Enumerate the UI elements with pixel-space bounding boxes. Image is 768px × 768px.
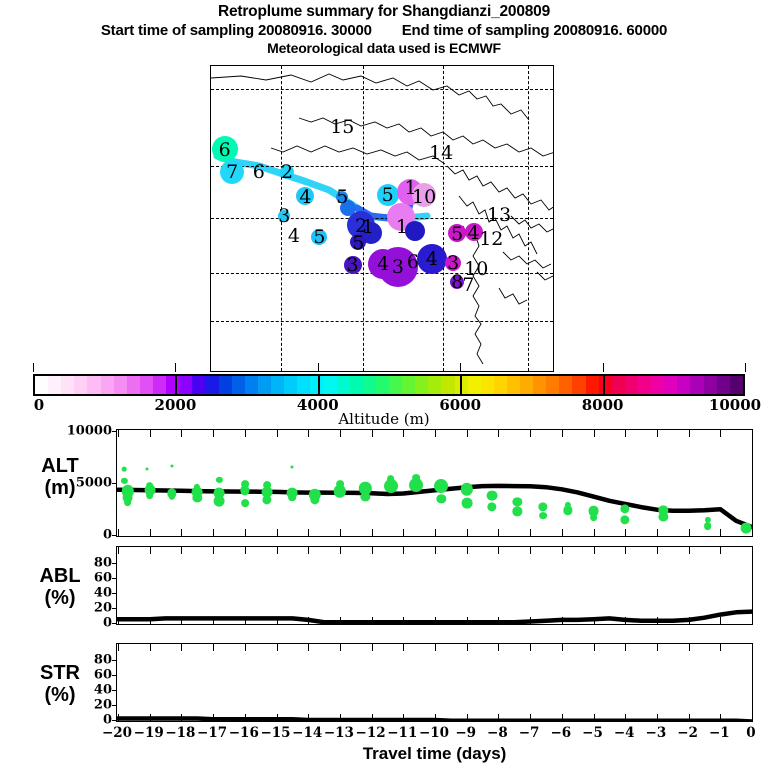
x-tick-label: −19 — [134, 725, 164, 741]
colorbar-segment — [441, 376, 454, 394]
x-tick-label: −9 — [455, 725, 476, 741]
colorbar-segment — [74, 376, 87, 394]
x-tick-label: −2 — [677, 725, 698, 741]
x-tick-label: −17 — [197, 725, 227, 741]
colorbar-segment — [205, 376, 218, 394]
map-cluster-label: 5 — [336, 186, 348, 208]
map-cluster-label: 12 — [479, 228, 503, 250]
x-axis-tick-bottom — [150, 714, 151, 721]
map-cluster-label: 6 — [219, 139, 231, 161]
map-cluster-label: 5 — [382, 184, 394, 206]
x-axis-tick-bottom — [372, 617, 373, 624]
x-axis-tick-bottom — [372, 714, 373, 721]
alt-scatter-point — [241, 499, 249, 507]
x-axis-tick-bottom — [340, 617, 341, 624]
x-axis-tick-top — [625, 644, 626, 651]
x-axis-tick-top — [372, 430, 373, 437]
x-axis-tick-top — [181, 430, 182, 437]
x-axis-tick-top — [752, 644, 753, 651]
x-tick-label: −4 — [614, 725, 635, 741]
y-tick-label: 40 — [94, 683, 112, 698]
x-axis-tick-bottom — [181, 529, 182, 536]
x-axis-tick-top — [689, 547, 690, 554]
x-axis-tick-bottom — [752, 617, 753, 624]
x-axis-tick-top — [689, 430, 690, 437]
map-cluster-label: 4 — [288, 225, 300, 247]
colorbar-segment — [271, 376, 284, 394]
x-axis-tick-bottom — [594, 529, 595, 536]
colorbar-segment — [245, 376, 258, 394]
x-axis-tick-bottom — [181, 714, 182, 721]
map-cluster-label: 14 — [429, 142, 453, 164]
str-series-overlay — [117, 644, 753, 722]
colorbar-segment — [704, 376, 717, 394]
x-axis-tick-top — [720, 644, 721, 651]
x-axis-tick-top — [150, 547, 151, 554]
map-cluster-label: 5 — [352, 232, 364, 254]
map-cluster-label: 4 — [377, 253, 389, 275]
x-axis-tick-bottom — [498, 529, 499, 536]
x-axis-tick-top — [720, 430, 721, 437]
x-axis-tick-top — [657, 430, 658, 437]
colorbar-segment — [127, 376, 140, 394]
x-axis-tick-top — [625, 430, 626, 437]
x-axis-tick-top — [372, 547, 373, 554]
x-axis-tick-bottom — [118, 714, 119, 721]
abl-plot-panel[interactable] — [116, 546, 753, 625]
page-title: Retroplume summary for Shangdianzi_20080… — [0, 2, 768, 21]
colorbar-divider — [175, 374, 177, 396]
x-axis-tick-bottom — [150, 617, 151, 624]
x-axis-tick-bottom — [340, 529, 341, 536]
map-cluster-label: 4 — [468, 222, 480, 244]
x-axis-tick-bottom — [720, 617, 721, 624]
colorbar-segment — [402, 376, 415, 394]
colorbar-tick — [33, 363, 34, 372]
x-axis-tick-bottom — [562, 617, 563, 624]
x-axis-tick-top — [498, 430, 499, 437]
colorbar-segment — [415, 376, 428, 394]
x-axis-tick-top — [530, 547, 531, 554]
x-axis-tick-top — [308, 430, 309, 437]
x-axis-tick-top — [562, 547, 563, 554]
x-axis-tick-bottom — [530, 714, 531, 721]
x-axis-tick-top — [308, 644, 309, 651]
y-tick-label: 80 — [94, 653, 112, 668]
abl-y-tick-labels: 020406080 — [66, 546, 112, 625]
x-axis-tick-bottom — [245, 617, 246, 624]
alt-scatter-point — [487, 490, 498, 501]
colorbar-segment — [153, 376, 166, 394]
x-axis-tick-bottom — [277, 714, 278, 721]
map-cluster-label: 2 — [281, 161, 293, 183]
colorbar-segment — [101, 376, 114, 394]
x-axis-tick-top — [435, 430, 436, 437]
x-axis-tick-bottom — [213, 617, 214, 624]
map-cluster-label: 13 — [487, 204, 511, 226]
str-y-tick-labels: 020406080 — [66, 643, 112, 722]
map-cluster-label: 3 — [392, 256, 404, 278]
y-tick-label: 60 — [94, 668, 112, 683]
colorbar-segment — [87, 376, 100, 394]
x-axis-tick-top — [150, 430, 151, 437]
map-cluster-label: 15 — [330, 116, 354, 138]
colorbar-segment — [638, 376, 651, 394]
abl-series-overlay — [117, 547, 753, 625]
colorbar-divider — [603, 374, 605, 396]
x-axis-tick-top — [657, 547, 658, 554]
map-cluster-label: 7 — [462, 274, 474, 296]
x-axis-tick-top — [118, 547, 119, 554]
map-cluster-label: 5 — [313, 226, 325, 248]
alt-scatter-point — [146, 482, 154, 490]
colorbar-divider — [318, 374, 320, 396]
x-tick-label: 0 — [746, 725, 755, 741]
colorbar-segment — [219, 376, 232, 394]
y-tick-label: 20 — [94, 601, 112, 616]
colorbar-segment — [284, 376, 297, 394]
alt-plot-panel[interactable] — [116, 429, 753, 537]
colorbar-segment — [664, 376, 677, 394]
colorbar-segment — [730, 376, 743, 394]
x-axis-tick-top — [562, 644, 563, 651]
alt-scatter-point — [740, 523, 751, 534]
colorbar-segment — [559, 376, 572, 394]
alt-scatter-point — [124, 498, 132, 506]
x-axis-tick-top — [498, 547, 499, 554]
x-axis-tick-bottom — [562, 529, 563, 536]
colorbar-tick — [318, 363, 319, 372]
colorbar-tick — [175, 363, 176, 372]
colorbar-segment — [232, 376, 245, 394]
x-tick-label: −20 — [102, 725, 132, 741]
map-cluster-label: 4 — [299, 186, 311, 208]
x-axis-tick-bottom — [118, 617, 119, 624]
colorbar-segment — [323, 376, 336, 394]
x-axis-tick-top — [372, 644, 373, 651]
x-axis-tick-bottom — [689, 714, 690, 721]
colorbar-segment — [494, 376, 507, 394]
alt-scatter-point — [146, 492, 154, 500]
colorbar-segment — [350, 376, 363, 394]
x-axis-tick-bottom — [657, 617, 658, 624]
colorbar-segment — [179, 376, 192, 394]
end-time-label: End time of sampling 20080916. 60000 — [402, 22, 667, 39]
alt-scatter-point — [434, 479, 448, 493]
x-axis-tick-bottom — [308, 714, 309, 721]
colorbar-segment — [651, 376, 664, 394]
colorbar-segment — [140, 376, 153, 394]
x-axis-tick-top — [181, 644, 182, 651]
x-axis-tick-top — [245, 547, 246, 554]
x-axis-tick-labels: −20−19−18−17−16−15−14−13−12−11−10−9−8−7−… — [116, 725, 753, 743]
title-block: Retroplume summary for Shangdianzi_20080… — [0, 2, 768, 57]
colorbar-segment — [586, 376, 599, 394]
alt-scatter-point — [288, 494, 296, 502]
x-axis-tick-bottom — [181, 617, 182, 624]
x-axis-tick-bottom — [435, 714, 436, 721]
x-tick-label: −3 — [646, 725, 667, 741]
x-axis-tick-top — [467, 644, 468, 651]
x-axis-tick-top — [340, 644, 341, 651]
x-axis-tick-bottom — [213, 529, 214, 536]
start-time-label: Start time of sampling 20080916. 30000 — [101, 22, 372, 39]
alt-scatter-point — [539, 512, 547, 520]
colorbar-segment — [337, 376, 350, 394]
x-tick-label: −11 — [387, 725, 417, 741]
x-axis-tick-top — [403, 547, 404, 554]
map-cluster-label: 6 — [253, 161, 265, 183]
x-axis-tick-top — [435, 547, 436, 554]
x-axis-tick-top — [213, 547, 214, 554]
colorbar-segment — [717, 376, 730, 394]
map-latitude-gridline — [211, 321, 553, 322]
colorbar-segment — [546, 376, 559, 394]
x-axis-tick-bottom — [498, 617, 499, 624]
x-axis-tick-bottom — [308, 617, 309, 624]
x-axis-tick-bottom — [467, 617, 468, 624]
colorbar-segment — [376, 376, 389, 394]
x-axis-tick-bottom — [625, 617, 626, 624]
x-axis-tick-top — [625, 547, 626, 554]
x-axis-tick-top — [530, 430, 531, 437]
alt-scatter-point — [461, 497, 472, 508]
colorbar-tick — [603, 363, 604, 372]
x-axis-tick-bottom — [308, 529, 309, 536]
colorbar-tick — [745, 363, 746, 372]
colorbar-segment — [114, 376, 127, 394]
colorbar-tick — [460, 363, 461, 372]
x-tick-label: −6 — [550, 725, 571, 741]
alt-scatter-point — [590, 514, 598, 522]
x-axis-tick-bottom — [435, 617, 436, 624]
colorbar-segment — [507, 376, 520, 394]
map-cluster-label: 1 — [396, 216, 408, 238]
colorbar-segment — [599, 376, 612, 394]
x-tick-label: −8 — [487, 725, 508, 741]
x-axis-tick-bottom — [118, 529, 119, 536]
x-tick-label: −7 — [519, 725, 540, 741]
x-tick-label: −14 — [292, 725, 322, 741]
map-cluster-label: 10 — [412, 186, 436, 208]
x-axis-tick-bottom — [720, 714, 721, 721]
x-axis-tick-bottom — [150, 529, 151, 536]
x-tick-label: −18 — [165, 725, 195, 741]
x-axis-tick-bottom — [403, 617, 404, 624]
altitude-colorbar — [33, 374, 745, 396]
colorbar-segment — [428, 376, 441, 394]
x-axis-tick-top — [181, 547, 182, 554]
x-axis-tick-top — [277, 547, 278, 554]
colorbar-segment — [572, 376, 585, 394]
x-axis-tick-bottom — [213, 714, 214, 721]
y-tick-label: 20 — [94, 698, 112, 713]
alt-scatter-point — [241, 480, 249, 488]
y-tick-label: 0 — [103, 528, 112, 543]
x-axis-tick-top — [118, 644, 119, 651]
meteo-source-label: Meteorological data used is ECMWF — [0, 40, 768, 57]
x-axis-tick-bottom — [594, 714, 595, 721]
colorbar-segment — [192, 376, 205, 394]
x-axis-tick-top — [150, 644, 151, 651]
x-axis-tick-top — [213, 644, 214, 651]
alt-scatter-point — [387, 475, 395, 483]
x-axis-tick-bottom — [657, 529, 658, 536]
colorbar-divider — [460, 374, 462, 396]
x-axis-tick-top — [213, 430, 214, 437]
alt-scatter-point — [122, 467, 127, 472]
retroplume-map[interactable]: 1514676245511013345215154123436431087 — [210, 65, 554, 372]
x-axis-tick-bottom — [403, 714, 404, 721]
x-tick-label: −16 — [229, 725, 259, 741]
x-axis-title: Travel time (days) — [116, 744, 753, 764]
colorbar-segment — [48, 376, 61, 394]
x-axis-tick-bottom — [657, 714, 658, 721]
str-plot-panel[interactable] — [116, 643, 753, 722]
x-axis-tick-bottom — [245, 714, 246, 721]
x-axis-tick-top — [245, 430, 246, 437]
x-axis-tick-bottom — [245, 529, 246, 536]
x-axis-tick-top — [340, 547, 341, 554]
x-axis-tick-bottom — [277, 529, 278, 536]
colorbar-axis-title: Altitude (m) — [0, 410, 768, 428]
x-axis-tick-top — [594, 644, 595, 651]
x-axis-tick-top — [498, 644, 499, 651]
alt-scatter-point — [412, 474, 420, 482]
x-axis-tick-top — [435, 644, 436, 651]
y-tick-label: 10000 — [67, 424, 112, 439]
x-axis-tick-bottom — [530, 617, 531, 624]
colorbar-segment — [690, 376, 703, 394]
x-axis-tick-bottom — [498, 714, 499, 721]
colorbar-segment — [61, 376, 74, 394]
sampling-times: Start time of sampling 20080916. 30000 E… — [0, 21, 768, 40]
colorbar-segment — [481, 376, 494, 394]
x-tick-label: −5 — [582, 725, 603, 741]
colorbar-segment — [363, 376, 376, 394]
colorbar-segment — [35, 376, 48, 394]
x-axis-tick-bottom — [467, 714, 468, 721]
x-axis-tick-top — [467, 430, 468, 437]
x-axis-tick-bottom — [689, 617, 690, 624]
y-tick-label: 0 — [103, 616, 112, 631]
x-axis-tick-top — [277, 644, 278, 651]
map-cluster-label: 4 — [426, 248, 438, 270]
y-tick-label: 40 — [94, 586, 112, 601]
x-axis-tick-bottom — [594, 617, 595, 624]
x-axis-tick-top — [467, 547, 468, 554]
x-tick-label: −13 — [324, 725, 354, 741]
alt-y-tick-labels: 0500010000 — [66, 429, 112, 537]
x-axis-tick-top — [689, 644, 690, 651]
x-axis-tick-top — [720, 547, 721, 554]
y-tick-label: 60 — [94, 571, 112, 586]
x-axis-tick-top — [118, 430, 119, 437]
alt-scatter-point — [263, 481, 271, 489]
x-axis-tick-bottom — [562, 714, 563, 721]
x-axis-tick-top — [594, 547, 595, 554]
alt-scatter-point — [214, 495, 225, 506]
x-axis-tick-bottom — [752, 714, 753, 721]
y-tick-label: 5000 — [76, 476, 112, 491]
x-axis-tick-top — [340, 430, 341, 437]
map-latitude-gridline — [211, 89, 553, 90]
x-axis-tick-top — [403, 430, 404, 437]
x-axis-tick-bottom — [467, 529, 468, 536]
x-axis-tick-bottom — [625, 529, 626, 536]
x-axis-tick-bottom — [625, 714, 626, 721]
colorbar-segment — [258, 376, 271, 394]
y-tick-label: 80 — [94, 556, 112, 571]
colorbar-segment — [612, 376, 625, 394]
colorbar-segment — [520, 376, 533, 394]
map-cluster-label: 5 — [451, 223, 463, 245]
x-axis-tick-top — [530, 644, 531, 651]
colorbar-segment — [677, 376, 690, 394]
colorbar-segment — [297, 376, 310, 394]
colorbar-segment — [468, 376, 481, 394]
colorbar-segment — [389, 376, 402, 394]
x-axis-tick-top — [403, 644, 404, 651]
x-axis-tick-bottom — [689, 529, 690, 536]
x-tick-label: −12 — [356, 725, 386, 741]
x-axis-tick-top — [594, 430, 595, 437]
map-cluster-label: 6 — [407, 251, 419, 273]
x-tick-label: −10 — [419, 725, 449, 741]
x-axis-tick-bottom — [435, 529, 436, 536]
x-axis-tick-bottom — [720, 529, 721, 536]
alt-scatter-point — [704, 522, 712, 530]
alt-scatter-point — [336, 480, 344, 488]
map-cluster-label: 3 — [346, 254, 358, 276]
x-axis-tick-top — [752, 430, 753, 437]
x-axis-tick-bottom — [277, 617, 278, 624]
x-axis-tick-top — [245, 644, 246, 651]
x-axis-tick-bottom — [403, 529, 404, 536]
x-axis-tick-bottom — [752, 529, 753, 536]
x-axis-tick-bottom — [340, 714, 341, 721]
colorbar-segment — [625, 376, 638, 394]
x-tick-label: −1 — [709, 725, 730, 741]
x-axis-tick-top — [308, 547, 309, 554]
x-axis-tick-bottom — [372, 529, 373, 536]
map-cluster-label: 8 — [451, 271, 463, 293]
colorbar-segment — [533, 376, 546, 394]
map-cluster-label: 7 — [226, 161, 238, 183]
x-axis-tick-top — [277, 430, 278, 437]
x-axis-tick-top — [657, 644, 658, 651]
x-axis-tick-bottom — [530, 529, 531, 536]
x-tick-label: −15 — [260, 725, 290, 741]
x-axis-tick-top — [562, 430, 563, 437]
map-inner: 1514676245511013345215154123436431087 — [211, 66, 553, 371]
x-axis-tick-top — [752, 547, 753, 554]
